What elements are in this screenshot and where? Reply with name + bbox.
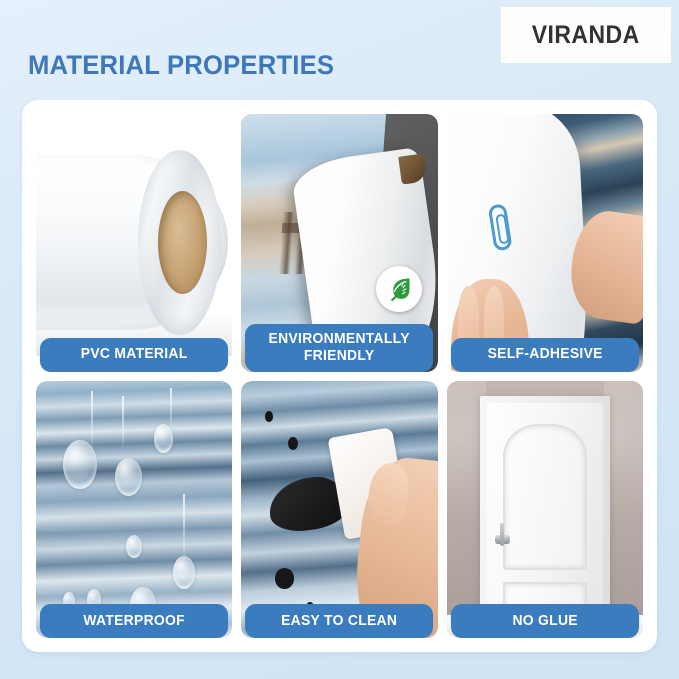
water-droplet [115,458,142,497]
wall-right [604,381,643,639]
roll-core-shape [158,191,207,294]
small-stain [265,411,273,421]
no-glue-door-image [447,381,643,639]
small-stain [275,568,295,589]
door-panel-upper [503,424,587,570]
card-label-easy-to-clean: EASY TO CLEAN [245,604,433,638]
feature-card-environmentally-friendly[interactable]: ENVIRONMENTALLY FRIENDLY [241,114,437,372]
water-droplet [154,424,174,452]
paperclip-icon [488,203,513,251]
water-droplet [173,556,195,589]
feature-card-grid: PVC MATERIAL ENVIRONMENTALLY FRIENDLY [36,114,643,638]
door-slab [487,403,604,638]
card-label-pvc-material: PVC MATERIAL [40,338,228,372]
self-adhesive-image [447,114,643,372]
card-label-environmentally-friendly: ENVIRONMENTALLY FRIENDLY [245,324,433,372]
pvc-roll-image [36,114,232,372]
door-handle [495,535,510,544]
small-stain [288,437,298,450]
feature-card-pvc-material[interactable]: PVC MATERIAL [36,114,232,372]
water-droplet [63,440,96,489]
water-streak [91,391,93,448]
waterproof-image [36,381,232,639]
feature-card-waterproof[interactable]: WATERPROOF [36,381,232,639]
door-frame [480,396,610,638]
feature-card-self-adhesive[interactable]: SELF-ADHESIVE [447,114,643,372]
water-streak [183,494,185,561]
brand-logo: VIRANDA [501,7,671,63]
feature-card-no-glue[interactable]: NO GLUE [447,381,643,639]
feature-card-easy-to-clean[interactable]: EASY TO CLEAN [241,381,437,639]
card-label-waterproof: WATERPROOF [40,604,228,638]
water-droplet [126,535,142,558]
water-streak [122,396,124,448]
peel-corner-tip [399,154,428,186]
page-title: MATERIAL PROPERTIES [28,50,334,81]
easy-to-clean-image [241,381,437,639]
water-streak [170,388,172,429]
eco-badge [376,266,422,312]
leaf-icon [385,275,413,303]
card-label-self-adhesive: SELF-ADHESIVE [451,338,639,372]
card-label-no-glue: NO GLUE [451,604,639,638]
feature-panel: PVC MATERIAL ENVIRONMENTALLY FRIENDLY [22,100,657,652]
brand-name: VIRANDA [532,21,640,50]
